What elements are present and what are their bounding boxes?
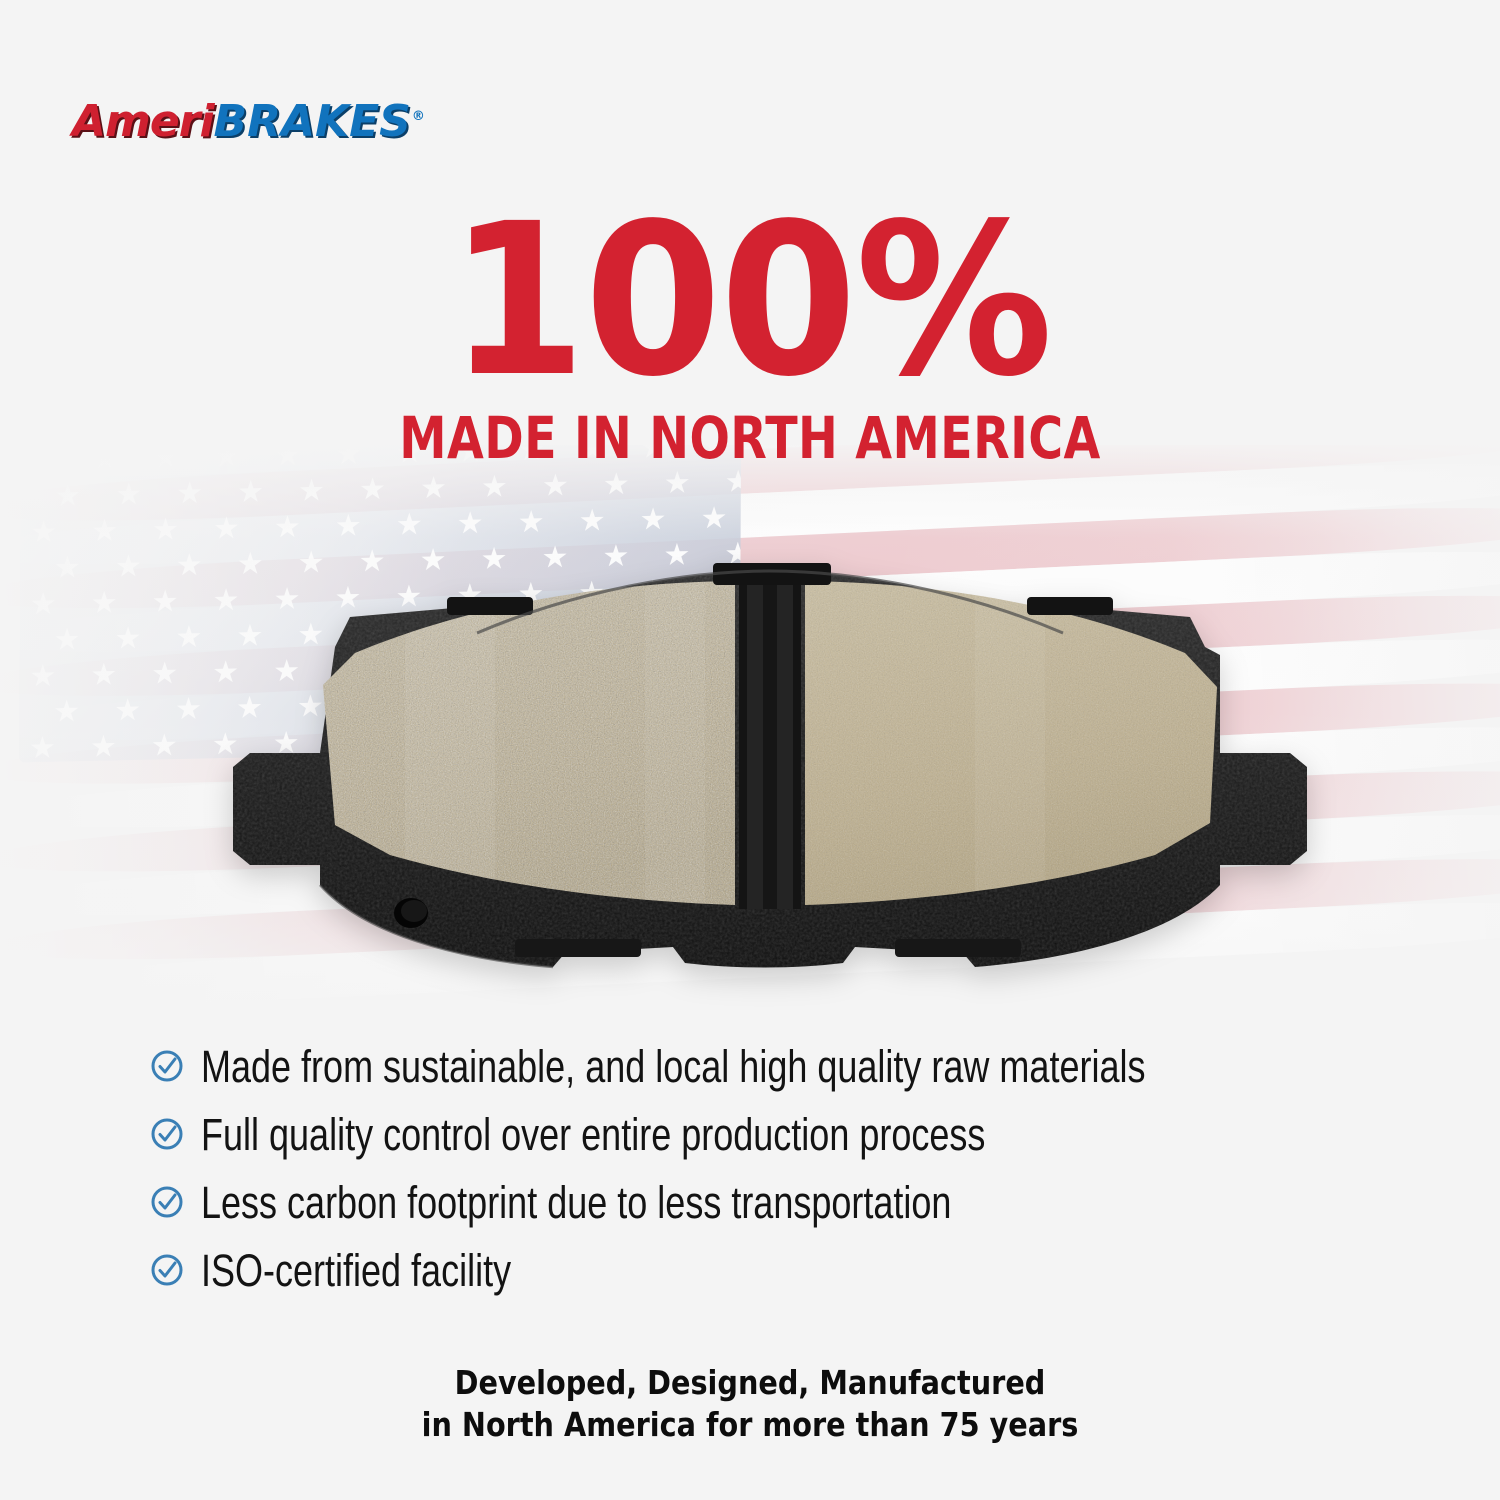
check-circle-icon [150, 1049, 184, 1083]
list-item-label: Less carbon footprint due to less transp… [201, 1180, 951, 1225]
registered-trademark-icon: ® [412, 109, 424, 124]
list-item: Full quality control over entire product… [150, 1108, 1390, 1160]
logo-text-brakes: BRAKES [214, 96, 411, 147]
wear-tab [447, 597, 533, 615]
list-item-label: Made from sustainable, and local high qu… [201, 1044, 1145, 1089]
check-circle-icon [150, 1253, 184, 1287]
made-in-north-america-heading: MADE IN NORTH AMERICA [135, 409, 1365, 467]
wear-tab-bottom [515, 939, 641, 957]
check-circle-icon [150, 1117, 184, 1151]
headline-block: 100% MADE IN NORTH AMERICA [0, 206, 1500, 467]
brand-logo: AmeriBRAKES® [72, 100, 424, 144]
list-item-label: ISO-certified facility [201, 1248, 511, 1293]
list-item-label: Full quality control over entire product… [201, 1112, 985, 1157]
wear-tab-bottom [895, 939, 1021, 957]
percent-heading: 100% [45, 206, 1455, 395]
list-item: Made from sustainable, and local high qu… [150, 1040, 1390, 1092]
check-circle-icon [150, 1185, 184, 1219]
list-item: ISO-certified facility [150, 1244, 1390, 1296]
feature-list: Made from sustainable, and local high qu… [150, 1040, 1390, 1312]
list-item: Less carbon footprint due to less transp… [150, 1176, 1390, 1228]
footer-block: Developed, Designed, Manufactured in Nor… [0, 1362, 1500, 1446]
promo-canvas: AmeriBRAKES® ★★★★★★★★★★★★★★★ ★★★★★★★★★★★… [0, 0, 1500, 1500]
footer-line-1: Developed, Designed, Manufactured [98, 1362, 1403, 1404]
footer-line-2: in North America for more than 75 years [98, 1404, 1403, 1446]
wear-tab [1027, 597, 1113, 615]
center-slot [739, 579, 801, 909]
brake-pad-product-image [215, 555, 1325, 985]
logo-text-ameri: Ameri [72, 96, 214, 147]
